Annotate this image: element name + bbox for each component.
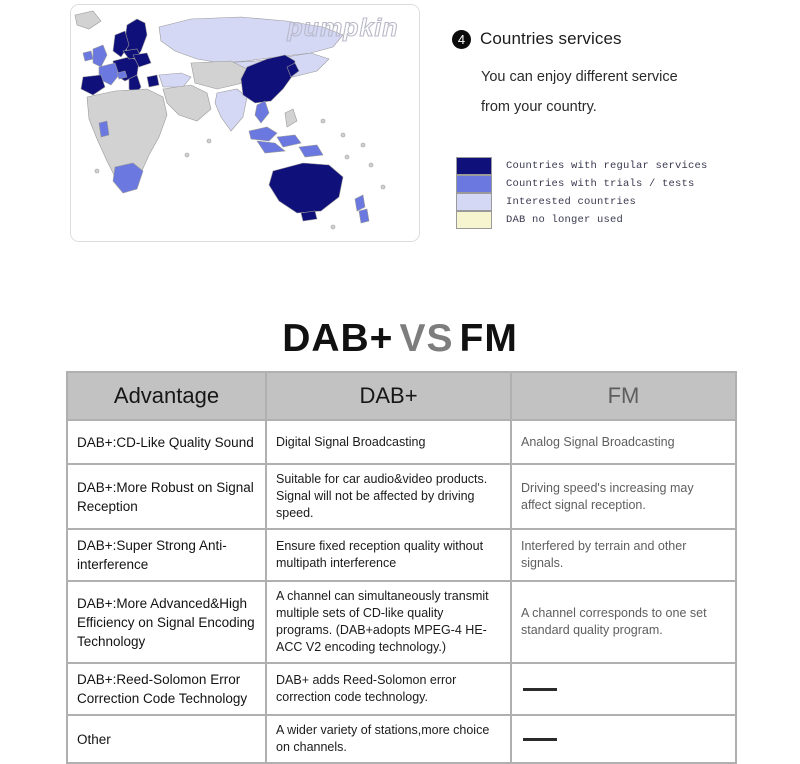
- service-description-line-2: from your country.: [481, 92, 782, 122]
- legend-item-interested: Interested countries: [456, 193, 776, 211]
- title-dabplus: DAB+: [282, 317, 393, 360]
- cell-advantage: DAB+:Reed-Solomon Error Correction Code …: [67, 663, 266, 715]
- table-row: DAB+:Reed-Solomon Error Correction Code …: [67, 663, 736, 715]
- countries-services-section: pumpkin 4 Countries services You can enj…: [0, 0, 800, 300]
- map-legend: Countries with regular services Countrie…: [456, 157, 776, 229]
- legend-label-interested: Interested countries: [506, 196, 636, 208]
- title-fm: FM: [460, 317, 518, 360]
- column-header-advantage: Advantage: [67, 372, 266, 420]
- legend-label-regular: Countries with regular services: [506, 160, 708, 172]
- cell-dabplus: Suitable for car audio&video products. S…: [266, 464, 511, 529]
- cell-fm: Analog Signal Broadcasting: [511, 420, 736, 464]
- column-header-dabplus: DAB+: [266, 372, 511, 420]
- table-row: DAB+:More Robust on Signal Reception Sui…: [67, 464, 736, 529]
- legend-label-trials: Countries with trials / tests: [506, 178, 695, 190]
- comparison-title: DAB+VSFM: [0, 316, 800, 362]
- step-number-badge: 4: [452, 30, 471, 49]
- cell-advantage: DAB+:CD-Like Quality Sound: [67, 420, 266, 464]
- table-row: DAB+:Super Strong Anti-interference Ensu…: [67, 529, 736, 581]
- column-header-fm: FM: [511, 372, 736, 420]
- cell-advantage: DAB+:Super Strong Anti-interference: [67, 529, 266, 581]
- em-dash-icon: [523, 688, 557, 691]
- em-dash-icon: [523, 738, 557, 741]
- cell-dabplus: DAB+ adds Reed-Solomon error correction …: [266, 663, 511, 715]
- legend-swatch-regular: [456, 157, 492, 175]
- table-row: DAB+:CD-Like Quality Sound Digital Signa…: [67, 420, 736, 464]
- legend-swatch-no-longer-used: [456, 211, 492, 229]
- world-map-card: pumpkin: [70, 4, 420, 242]
- service-info-block: 4 Countries services You can enjoy diffe…: [452, 26, 782, 122]
- dab-vs-fm-comparison-table: Advantage DAB+ FM DAB+:CD-Like Quality S…: [66, 371, 737, 764]
- cell-dabplus: Digital Signal Broadcasting: [266, 420, 511, 464]
- legend-item-trials: Countries with trials / tests: [456, 175, 776, 193]
- legend-swatch-interested: [456, 193, 492, 211]
- table-header-row: Advantage DAB+ FM: [67, 372, 736, 420]
- legend-item-regular: Countries with regular services: [456, 157, 776, 175]
- service-heading-row: 4 Countries services: [452, 26, 782, 52]
- cell-fm: Interfered by terrain and other signals.: [511, 529, 736, 581]
- cell-dabplus: Ensure fixed reception quality without m…: [266, 529, 511, 581]
- title-vs: VS: [399, 317, 453, 360]
- legend-label-no-longer-used: DAB no longer used: [506, 214, 623, 226]
- service-description-line-1: You can enjoy different service: [481, 62, 782, 92]
- cell-fm-dash: [511, 663, 736, 715]
- service-heading: Countries services: [480, 29, 622, 49]
- cell-dabplus: A channel can simultaneously transmit mu…: [266, 581, 511, 663]
- world-map-image: [71, 5, 419, 241]
- cell-fm: Driving speed's increasing may affect si…: [511, 464, 736, 529]
- cell-advantage: DAB+:More Advanced&High Efficiency on Si…: [67, 581, 266, 663]
- legend-swatch-trials: [456, 175, 492, 193]
- legend-item-no-longer-used: DAB no longer used: [456, 211, 776, 229]
- table-row: DAB+:More Advanced&High Efficiency on Si…: [67, 581, 736, 663]
- cell-advantage: DAB+:More Robust on Signal Reception: [67, 464, 266, 529]
- cell-fm: A channel corresponds to one set standar…: [511, 581, 736, 663]
